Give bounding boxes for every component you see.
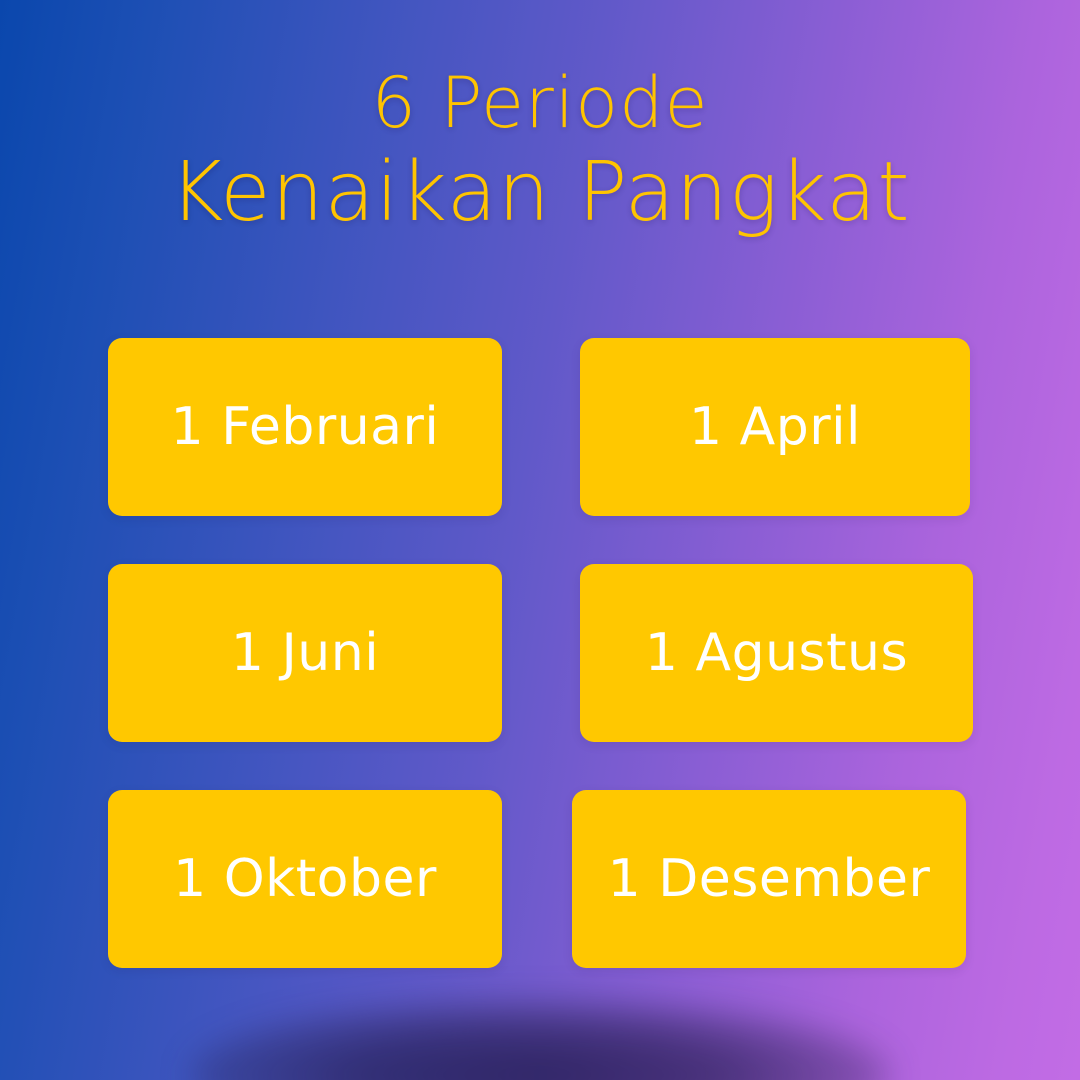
period-card-juni[interactable]: 1 Juni	[108, 564, 502, 742]
card-row: 1 Februari 1 April	[0, 338, 1080, 516]
title-line-secondary: Kenaikan Pangkat	[0, 145, 1080, 242]
card-row: 1 Juni 1 Agustus	[0, 564, 1080, 742]
period-card-label: 1 Oktober	[173, 853, 437, 905]
period-card-label: 1 Februari	[171, 401, 440, 453]
period-card-agustus[interactable]: 1 Agustus	[580, 564, 973, 742]
card-row: 1 Oktober 1 Desember	[0, 790, 1080, 968]
period-card-oktober[interactable]: 1 Oktober	[108, 790, 502, 968]
period-card-april[interactable]: 1 April	[580, 338, 970, 516]
period-card-desember[interactable]: 1 Desember	[572, 790, 966, 968]
period-card-februari[interactable]: 1 Februari	[108, 338, 502, 516]
period-card-label: 1 Desember	[608, 853, 931, 905]
title-line-primary: 6 Periode	[0, 62, 1080, 145]
period-card-grid: 1 Februari 1 April 1 Juni 1 Agustus 1 Ok…	[0, 338, 1080, 968]
page-title: 6 Periode Kenaikan Pangkat	[0, 62, 1080, 241]
period-card-label: 1 April	[689, 401, 861, 453]
poster-canvas: 6 Periode Kenaikan Pangkat 1 Februari 1 …	[0, 0, 1080, 1080]
period-card-label: 1 Juni	[231, 627, 379, 679]
ground-shadow-ellipse	[190, 1000, 890, 1080]
period-card-label: 1 Agustus	[645, 627, 908, 679]
